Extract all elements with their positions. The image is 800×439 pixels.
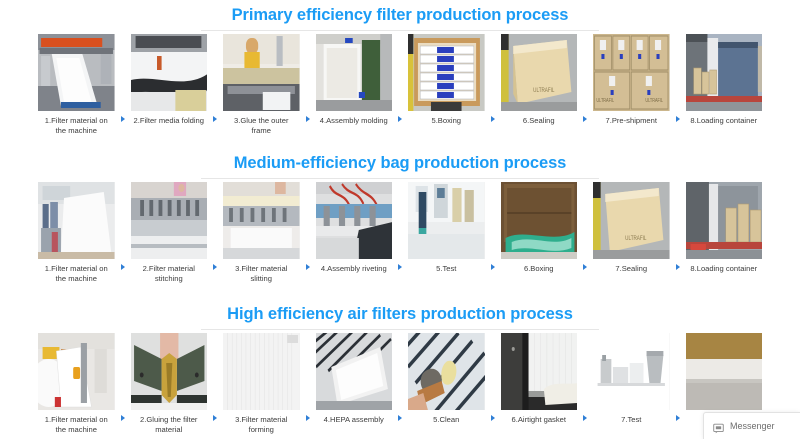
boxing-final-icon bbox=[686, 333, 763, 410]
step-arrow-icon bbox=[300, 182, 316, 282]
step-item[interactable]: 4.Assembly molding bbox=[316, 34, 393, 126]
assembly-riveting-icon bbox=[316, 182, 393, 259]
step-thumbnail[interactable] bbox=[316, 333, 393, 410]
test-station-icon bbox=[408, 182, 485, 259]
step-caption: 7.Test bbox=[593, 415, 670, 425]
step-item[interactable]: 3.Filter material forming bbox=[223, 333, 300, 434]
svg-text:ULTRAFIL: ULTRAFIL bbox=[596, 98, 614, 104]
sealed-carton-icon: ULTRAFIL bbox=[501, 34, 578, 111]
step-thumbnail[interactable] bbox=[223, 182, 300, 259]
title-divider bbox=[201, 30, 599, 31]
step-item[interactable]: 4.HEPA assembly bbox=[316, 333, 393, 425]
step-arrow-icon bbox=[485, 182, 501, 282]
step-item[interactable]: 4.Assembly riveting bbox=[316, 182, 393, 274]
step-caption: 3.Filter material forming bbox=[223, 415, 300, 434]
step-caption: 2.Gluing the filter material bbox=[131, 415, 208, 434]
messenger-widget[interactable]: Messenger bbox=[703, 412, 800, 439]
step-item[interactable]: 1.Filter material on the machine bbox=[38, 34, 115, 135]
step-caption: 7.Sealing bbox=[593, 264, 670, 274]
step-thumbnail[interactable] bbox=[316, 34, 393, 111]
step-item[interactable]: 5.Clean bbox=[408, 333, 485, 425]
step-thumbnail[interactable] bbox=[131, 34, 208, 111]
filter-material-on-machine-icon bbox=[38, 34, 115, 111]
step-caption: 4.Assembly molding bbox=[316, 116, 393, 126]
step-item[interactable]: 8.Boxing bbox=[686, 333, 763, 425]
assembly-molding-icon bbox=[316, 34, 393, 111]
step-caption: 6.Airtight gasket bbox=[501, 415, 578, 425]
step-thumbnail[interactable]: ULTRAFIL bbox=[593, 182, 670, 259]
section-primary-efficiency: Primary efficiency filter production pro… bbox=[0, 4, 800, 135]
boxing-carton-interior-icon bbox=[501, 182, 578, 259]
step-item[interactable]: 1.Filter material on the machine bbox=[38, 182, 115, 283]
messenger-icon bbox=[713, 421, 724, 432]
step-thumbnail[interactable] bbox=[131, 333, 208, 410]
step-row: 1.Filter material on the machine bbox=[0, 182, 800, 283]
gluing-filter-material-icon bbox=[131, 333, 208, 410]
step-item[interactable]: 8.Loading container bbox=[686, 182, 763, 274]
step-caption: 5.Test bbox=[408, 264, 485, 274]
step-caption: 8.Loading container bbox=[686, 264, 763, 274]
step-arrow-icon bbox=[300, 34, 316, 134]
filter-material-forming-icon bbox=[223, 333, 300, 410]
step-arrow-icon bbox=[392, 333, 408, 433]
section-medium-efficiency: Medium-efficiency bag production process bbox=[0, 152, 800, 283]
filter-material-on-machine-icon bbox=[38, 182, 115, 259]
step-thumbnail[interactable] bbox=[593, 333, 670, 410]
svg-text:ULTRAFIL: ULTRAFIL bbox=[625, 236, 646, 243]
filter-roll-machine-icon bbox=[38, 333, 115, 410]
step-row: 1.Filter material on the machine bbox=[0, 34, 800, 135]
step-arrow-icon bbox=[670, 34, 686, 134]
airtight-gasket-icon bbox=[501, 333, 578, 410]
title-divider bbox=[201, 329, 599, 330]
step-thumbnail[interactable] bbox=[686, 182, 763, 259]
step-thumbnail[interactable] bbox=[501, 333, 578, 410]
title-divider bbox=[201, 178, 599, 179]
step-arrow-icon bbox=[207, 333, 223, 433]
step-item[interactable]: 6.Airtight gasket bbox=[501, 333, 578, 425]
step-caption: 2.Filter material stitching bbox=[131, 264, 208, 283]
section-title: High efficiency air filters production p… bbox=[0, 303, 800, 325]
svg-text:ULTRAFIL: ULTRAFIL bbox=[645, 98, 663, 104]
step-thumbnail[interactable] bbox=[408, 333, 485, 410]
step-arrow-icon bbox=[207, 182, 223, 282]
step-caption: 1.Filter material on the machine bbox=[38, 415, 115, 434]
step-item[interactable]: 6.Boxing bbox=[501, 182, 578, 274]
step-thumbnail[interactable] bbox=[131, 182, 208, 259]
step-item[interactable]: ULTRAFIL ULTRAFIL 7.Pre-shipment bbox=[593, 34, 670, 126]
step-item[interactable]: ULTRAFIL 7.Sealing bbox=[593, 182, 670, 274]
step-caption: 6.Sealing bbox=[501, 116, 578, 126]
step-thumbnail[interactable] bbox=[501, 182, 578, 259]
step-thumbnail[interactable] bbox=[223, 333, 300, 410]
step-caption: 7.Pre-shipment bbox=[593, 116, 670, 126]
section-title: Primary efficiency filter production pro… bbox=[0, 4, 800, 26]
step-caption: 1.Filter material on the machine bbox=[38, 264, 115, 283]
step-arrow-icon bbox=[485, 34, 501, 134]
step-thumbnail[interactable] bbox=[686, 333, 763, 410]
step-arrow-icon bbox=[670, 333, 686, 433]
section-title: Medium-efficiency bag production process bbox=[0, 152, 800, 174]
step-thumbnail[interactable] bbox=[686, 34, 763, 111]
step-thumbnail[interactable] bbox=[38, 333, 115, 410]
filter-material-slitting-icon bbox=[223, 182, 300, 259]
loading-container-truck-icon bbox=[686, 182, 763, 259]
step-caption: 3.Filter material slitting bbox=[223, 264, 300, 283]
filter-media-folding-icon bbox=[131, 34, 208, 111]
step-item[interactable]: 2.Gluing the filter material bbox=[131, 333, 208, 434]
step-caption: 6.Boxing bbox=[501, 264, 578, 274]
hepa-assembly-icon bbox=[316, 333, 393, 410]
step-thumbnail[interactable] bbox=[316, 182, 393, 259]
step-caption: 3.Glue the outer frame bbox=[223, 116, 300, 135]
step-item[interactable]: ULTRAFIL 6.Sealing bbox=[501, 34, 578, 126]
step-item[interactable]: 2.Filter material stitching bbox=[131, 182, 208, 283]
page-root: Primary efficiency filter production pro… bbox=[0, 0, 800, 439]
svg-text:ULTRAFIL: ULTRAFIL bbox=[533, 88, 554, 95]
step-thumbnail[interactable]: ULTRAFIL ULTRAFIL bbox=[593, 34, 670, 111]
step-item[interactable]: 2.Filter media folding bbox=[131, 34, 208, 126]
filter-material-stitching-icon bbox=[131, 182, 208, 259]
step-thumbnail[interactable] bbox=[38, 182, 115, 259]
step-caption: 4.HEPA assembly bbox=[316, 415, 393, 425]
step-thumbnail[interactable] bbox=[223, 34, 300, 111]
step-thumbnail[interactable] bbox=[38, 34, 115, 111]
step-caption: 5.Clean bbox=[408, 415, 485, 425]
messenger-label: Messenger bbox=[730, 421, 775, 431]
step-arrow-icon bbox=[392, 34, 408, 134]
step-item[interactable]: 3.Filter material slitting bbox=[223, 182, 300, 283]
step-caption: 2.Filter media folding bbox=[131, 116, 208, 126]
clean-step-icon bbox=[408, 333, 485, 410]
step-thumbnail[interactable]: ULTRAFIL bbox=[501, 34, 578, 111]
step-arrow-icon bbox=[300, 333, 316, 433]
step-item[interactable]: 1.Filter material on the machine bbox=[38, 333, 115, 434]
glue-outer-frame-icon bbox=[223, 34, 300, 111]
step-thumbnail[interactable] bbox=[408, 34, 485, 111]
step-arrow-icon bbox=[115, 34, 131, 134]
step-item[interactable]: 5.Test bbox=[408, 182, 485, 274]
step-item[interactable]: 8.Loading container bbox=[686, 34, 763, 126]
sealed-carton-icon: ULTRAFIL bbox=[593, 182, 670, 259]
step-caption: 1.Filter material on the machine bbox=[38, 116, 115, 135]
pre-shipment-stacked-cartons-icon: ULTRAFIL ULTRAFIL bbox=[593, 34, 670, 111]
test-equipment-icon bbox=[593, 333, 670, 410]
step-arrow-icon bbox=[670, 182, 686, 282]
step-item[interactable]: 7.Test bbox=[593, 333, 670, 425]
step-arrow-icon bbox=[392, 182, 408, 282]
step-caption: 4.Assembly riveting bbox=[316, 264, 393, 274]
step-arrow-icon bbox=[577, 34, 593, 134]
step-arrow-icon bbox=[485, 333, 501, 433]
boxing-open-carton-icon bbox=[408, 34, 485, 111]
section-high-efficiency: High efficiency air filters production p… bbox=[0, 303, 800, 434]
step-arrow-icon bbox=[115, 182, 131, 282]
step-arrow-icon bbox=[577, 333, 593, 433]
step-arrow-icon bbox=[115, 333, 131, 433]
step-arrow-icon bbox=[577, 182, 593, 282]
step-arrow-icon bbox=[207, 34, 223, 134]
step-caption: 5.Boxing bbox=[408, 116, 485, 126]
step-thumbnail[interactable] bbox=[408, 182, 485, 259]
loading-container-truck-icon bbox=[686, 34, 763, 111]
step-row: 1.Filter material on the machine bbox=[0, 333, 800, 434]
step-item[interactable]: 3.Glue the outer frame bbox=[223, 34, 300, 135]
step-item[interactable]: 5.Boxing bbox=[408, 34, 485, 126]
step-caption: 8.Loading container bbox=[686, 116, 763, 126]
